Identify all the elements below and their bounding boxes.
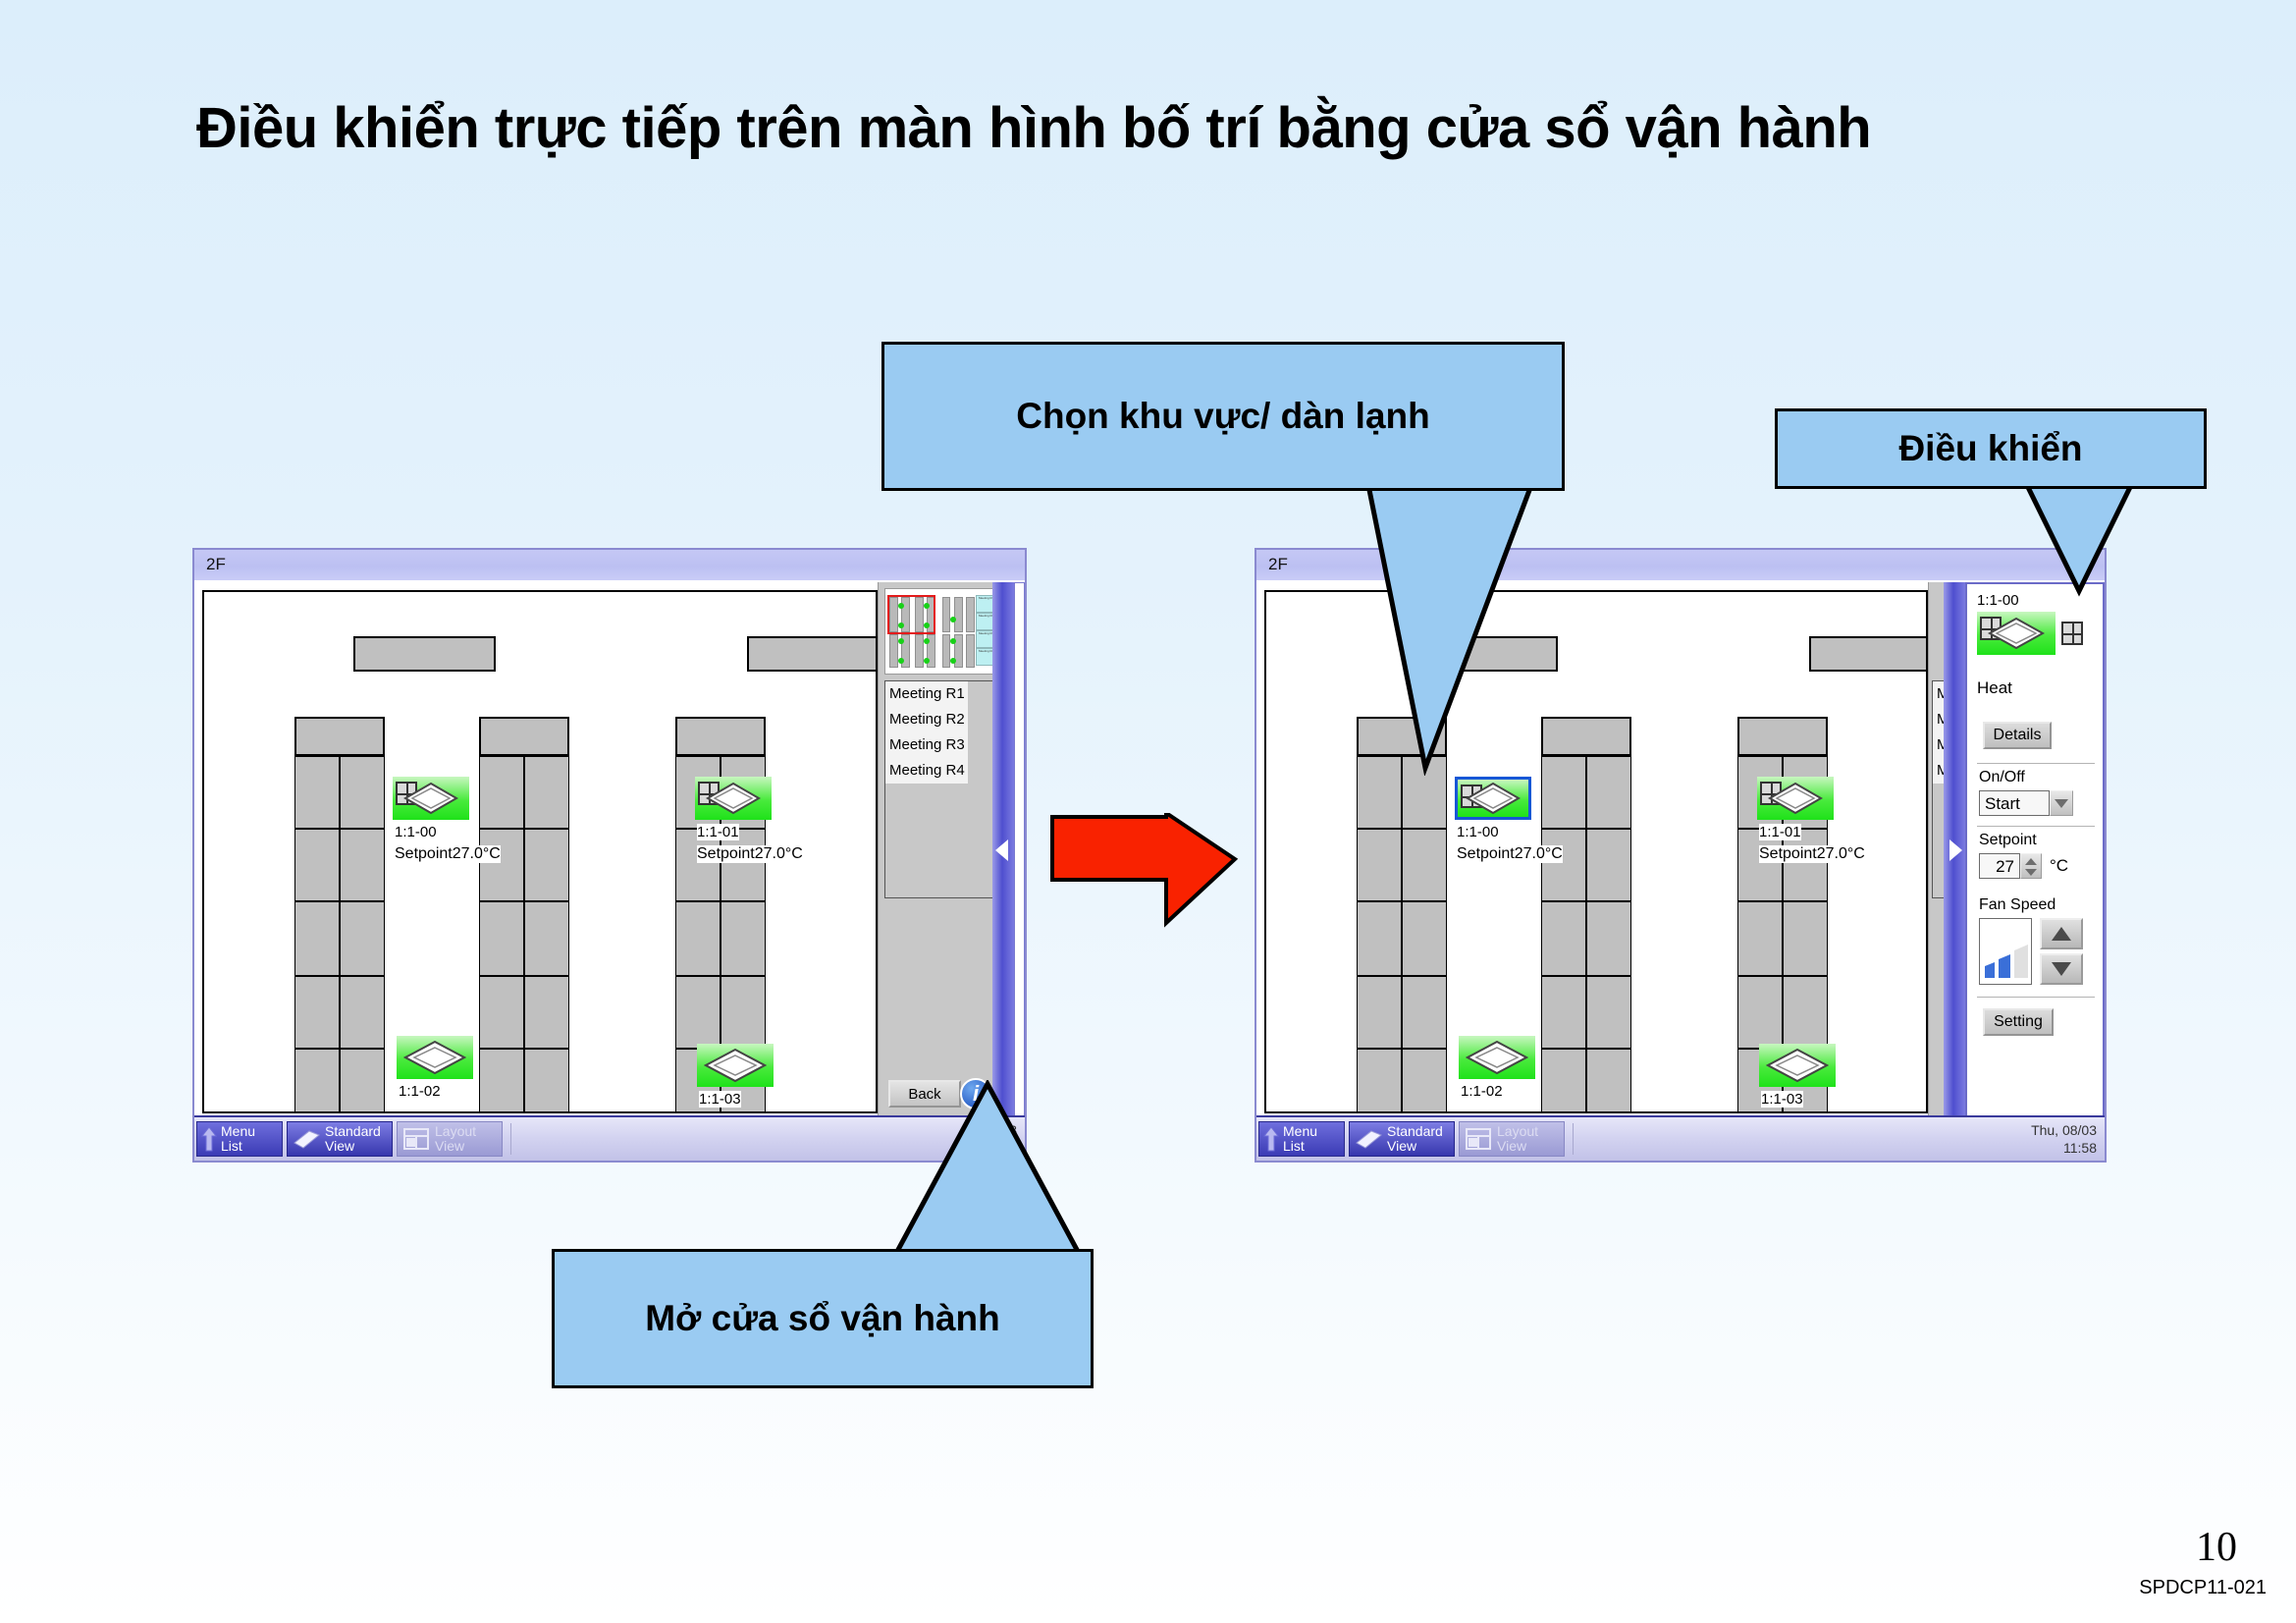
room-cell xyxy=(1586,1049,1631,1113)
room-cell xyxy=(1783,901,1828,976)
unit-status-dot xyxy=(898,658,904,664)
layout-view-label-line1: Layout xyxy=(1497,1124,1538,1139)
callout-tail-open-window xyxy=(834,1080,1090,1267)
ac-unit-setpoint: Setpoint27.0°C xyxy=(1457,845,1563,863)
ac-diamond-icon xyxy=(403,1040,466,1075)
ac-unit-label: 1:1-01 xyxy=(697,824,739,840)
room-cell xyxy=(1586,976,1631,1049)
setpoint-input[interactable]: 27 xyxy=(1979,853,2020,879)
menu-list-label-line2: List xyxy=(221,1139,255,1154)
menu-list-button[interactable]: MenuList xyxy=(196,1121,283,1157)
filter-grid-icon xyxy=(2061,622,2083,645)
room-block xyxy=(1809,636,1928,672)
room-cell xyxy=(340,1049,385,1113)
layout-view-icon xyxy=(402,1127,430,1151)
room-block xyxy=(353,636,496,672)
menu-list-label-line2: List xyxy=(1283,1139,1317,1154)
chevron-down-icon[interactable] xyxy=(2050,790,2073,816)
divider xyxy=(1977,997,2095,998)
room-cell xyxy=(1402,976,1447,1049)
divider xyxy=(1977,763,2095,764)
room-block xyxy=(294,717,385,756)
room-cell xyxy=(1541,829,1586,901)
thumb-col xyxy=(889,634,898,668)
setting-button[interactable]: Setting xyxy=(1983,1008,2054,1036)
room-cell xyxy=(479,756,524,829)
setpoint-unit: °C xyxy=(2050,856,2068,876)
ac-diamond-icon xyxy=(1768,782,1823,815)
room-cell xyxy=(1402,1049,1447,1113)
zone-list-item[interactable]: Meeting R1 xyxy=(885,681,968,707)
ac-diamond-icon xyxy=(1766,1048,1829,1083)
toolbar-divider xyxy=(510,1123,511,1155)
room-block xyxy=(747,636,878,672)
toolbar-divider xyxy=(1573,1123,1574,1155)
zone-sidebar-left: Meeting R1 Meeting R2 Meeting R3 Meeting… xyxy=(878,582,1003,1117)
floor-title-left: 2F xyxy=(194,550,1025,581)
details-button[interactable]: Details xyxy=(1983,722,2052,749)
up-arrow-icon xyxy=(201,1126,217,1152)
chevron-right-icon[interactable] xyxy=(1949,839,1962,861)
page-number: 10 xyxy=(2196,1524,2237,1571)
callout-open-window: Mở cửa sổ vận hành xyxy=(552,1249,1094,1388)
standard-view-icon xyxy=(1354,1127,1383,1151)
ac-unit-label: 1:1-03 xyxy=(1761,1091,1803,1108)
room-cell xyxy=(1357,829,1402,901)
standard-view-label-line2: View xyxy=(325,1139,381,1154)
chevron-down-glyph xyxy=(2055,799,2068,808)
room-cell xyxy=(524,1049,569,1113)
zone-list-item[interactable]: Meeting R2 xyxy=(885,707,968,732)
ac-diamond-icon xyxy=(706,782,761,815)
room-cell xyxy=(479,829,524,901)
panel-collapse-bar-left[interactable] xyxy=(992,582,1014,1117)
ac-diamond-icon xyxy=(1988,617,2045,650)
room-cell xyxy=(294,829,340,901)
room-cell xyxy=(479,976,524,1049)
zone-list-item[interactable]: Meeting R3 xyxy=(885,732,968,758)
ac-unit-icon[interactable] xyxy=(695,777,772,820)
fan-speed-label: Fan Speed xyxy=(1979,896,2056,914)
room-cell xyxy=(675,901,721,976)
standard-view-label-line1: Standard xyxy=(1387,1124,1443,1139)
room-cell xyxy=(524,756,569,829)
room-cell xyxy=(524,901,569,976)
standard-view-label-line2: View xyxy=(1387,1139,1443,1154)
room-cell xyxy=(340,976,385,1049)
setpoint-stepper[interactable] xyxy=(2020,853,2042,879)
room-cell xyxy=(340,901,385,976)
room-cell xyxy=(1541,901,1586,976)
fan-speed-indicator xyxy=(1979,918,2032,985)
ac-unit-icon[interactable] xyxy=(1757,777,1834,820)
callout-tail-control xyxy=(1963,471,2140,599)
page-title: Điều khiển trực tiếp trên màn hình bố tr… xyxy=(196,96,2120,162)
scrollbar-left[interactable] xyxy=(1014,582,1025,1117)
room-cell xyxy=(479,1049,524,1113)
room-cell xyxy=(524,976,569,1049)
thumb-col xyxy=(966,597,975,632)
room-cell xyxy=(1586,829,1631,901)
room-cell xyxy=(294,901,340,976)
room-cell xyxy=(340,756,385,829)
unit-status-dot xyxy=(950,617,956,622)
callout-open-window-text: Mở cửa sổ vận hành xyxy=(645,1297,1000,1340)
unit-status-dot xyxy=(924,658,930,664)
unit-status-dot xyxy=(924,638,930,644)
ac-unit-icon[interactable] xyxy=(1759,1044,1836,1087)
toolbar-date: Thu, 08/03 xyxy=(2031,1121,2097,1139)
unit-status-dot xyxy=(898,638,904,644)
device-body-left: 1:1-00 Setpoint27.0°C 1:1-01 Setpoint27.… xyxy=(194,582,1025,1117)
standard-view-button[interactable]: StandardView xyxy=(1349,1121,1455,1157)
menu-list-label-line1: Menu xyxy=(1283,1124,1317,1139)
unit-status-dot xyxy=(950,658,956,664)
menu-list-button[interactable]: MenuList xyxy=(1258,1121,1345,1157)
operation-control-panel: 1:1-00 Heat Details On/Off Start Setpoin… xyxy=(1965,582,2105,1117)
room-block xyxy=(1737,717,1828,756)
callout-control: Điều khiển xyxy=(1775,408,2207,489)
room-cell xyxy=(1357,976,1402,1049)
room-block xyxy=(675,717,766,756)
divider xyxy=(1977,826,2095,827)
ac-unit-label: 1:1-01 xyxy=(1759,824,1801,840)
floorplan-left[interactable]: 1:1-00 Setpoint27.0°C 1:1-01 Setpoint27.… xyxy=(202,590,878,1113)
fan-speed-bars-icon xyxy=(1983,943,2032,978)
room-cell xyxy=(1402,829,1447,901)
ac-unit-icon-selected[interactable] xyxy=(1455,777,1531,820)
room-cell xyxy=(294,976,340,1049)
thumbnail-selection-box xyxy=(887,595,935,634)
ac-unit-label: 1:1-02 xyxy=(399,1083,441,1100)
up-arrow-icon xyxy=(2051,926,2072,942)
thumb-col xyxy=(966,634,975,668)
ac-unit-setpoint: Setpoint27.0°C xyxy=(697,845,803,863)
ac-unit-icon[interactable] xyxy=(697,1044,774,1087)
room-cell xyxy=(294,756,340,829)
room-cell xyxy=(1402,901,1447,976)
room-cell xyxy=(294,1049,340,1113)
stepper-arrows-icon xyxy=(2024,857,2038,877)
room-cell xyxy=(675,976,721,1049)
control-ac-unit-icon xyxy=(1977,612,2056,655)
fan-speed-up-button[interactable] xyxy=(2040,918,2083,949)
device-toolbar-right: MenuList StandardView LayoutView Thu, 08… xyxy=(1256,1115,2105,1161)
room-cell xyxy=(1586,756,1631,829)
room-cell xyxy=(1357,901,1402,976)
standard-view-icon xyxy=(292,1127,321,1151)
layout-view-label-line1: Layout xyxy=(435,1124,476,1139)
room-cell xyxy=(1586,901,1631,976)
standard-view-label-line1: Standard xyxy=(325,1124,381,1139)
ac-unit-label: 1:1-03 xyxy=(699,1091,741,1108)
room-cell xyxy=(524,829,569,901)
ac-diamond-icon xyxy=(403,782,458,815)
ac-unit-icon[interactable] xyxy=(393,777,469,820)
room-cell xyxy=(721,901,766,976)
room-cell xyxy=(1541,976,1586,1049)
unit-status-dot xyxy=(950,638,956,644)
fan-speed-down-button[interactable] xyxy=(2040,953,2083,985)
layout-view-button[interactable]: LayoutView xyxy=(397,1121,503,1157)
onoff-select[interactable]: Start xyxy=(1979,790,2050,816)
ac-diamond-icon xyxy=(704,1048,767,1083)
down-arrow-icon xyxy=(2051,961,2072,977)
room-cell xyxy=(721,976,766,1049)
ac-unit-label: 1:1-02 xyxy=(1461,1083,1503,1100)
callout-select-zone: Chọn khu vực/ dàn lạnh xyxy=(881,342,1565,491)
thumb-col xyxy=(942,634,950,668)
transition-arrow-icon xyxy=(1048,813,1245,931)
thumb-col xyxy=(954,597,963,632)
layout-view-label-line2: View xyxy=(435,1139,476,1154)
zone-list-item[interactable]: Meeting R4 xyxy=(885,758,968,784)
chevron-left-icon[interactable] xyxy=(995,839,1008,861)
room-cell xyxy=(1737,976,1783,1049)
callout-select-zone-text: Chọn khu vực/ dàn lạnh xyxy=(1016,395,1430,438)
panel-collapse-bar-right[interactable] xyxy=(1944,582,1965,1117)
ac-unit-setpoint: Setpoint27.0°C xyxy=(1759,845,1865,863)
thumb-col xyxy=(942,597,950,632)
ac-unit-icon[interactable] xyxy=(1459,1036,1535,1079)
room-cell xyxy=(1737,901,1783,976)
layout-view-button[interactable]: LayoutView xyxy=(1459,1121,1565,1157)
room-cell xyxy=(340,829,385,901)
thumb-col xyxy=(915,634,924,668)
document-code: SPDCP11-021 xyxy=(2139,1577,2267,1599)
ac-unit-label: 1:1-00 xyxy=(395,824,437,840)
room-cell xyxy=(1541,1049,1586,1113)
floor-thumbnail-map[interactable]: Meeting R1 Meeting R2 Meeting R3 Meeting… xyxy=(884,588,998,675)
zone-list[interactable]: Meeting R1 Meeting R2 Meeting R3 Meeting… xyxy=(884,680,998,898)
ac-unit-icon[interactable] xyxy=(397,1036,473,1079)
up-arrow-icon xyxy=(1263,1126,1279,1152)
layout-view-icon xyxy=(1465,1127,1492,1151)
callout-tail-select-zone xyxy=(1364,481,1590,776)
layout-view-label-line2: View xyxy=(1497,1139,1538,1154)
control-mode-label: Heat xyxy=(1977,678,2012,698)
room-cell xyxy=(1357,1049,1402,1113)
room-cell xyxy=(1783,976,1828,1049)
ac-diamond-icon xyxy=(1466,782,1521,815)
toolbar-time: 11:58 xyxy=(2031,1139,2097,1157)
setpoint-label: Setpoint xyxy=(1979,832,2037,849)
device-screen-left: 2F xyxy=(192,548,1027,1163)
ac-diamond-icon xyxy=(1466,1040,1528,1075)
callout-control-text: Điều khiển xyxy=(1898,427,2082,470)
ac-unit-setpoint: Setpoint27.0°C xyxy=(395,845,501,863)
ac-unit-label: 1:1-00 xyxy=(1457,824,1499,840)
standard-view-button[interactable]: StandardView xyxy=(287,1121,393,1157)
toolbar-clock-right: Thu, 08/03 11:58 xyxy=(2031,1121,2097,1157)
room-block xyxy=(479,717,569,756)
room-cell xyxy=(479,901,524,976)
menu-list-label-line1: Menu xyxy=(221,1124,255,1139)
onoff-label: On/Off xyxy=(1979,769,2025,786)
